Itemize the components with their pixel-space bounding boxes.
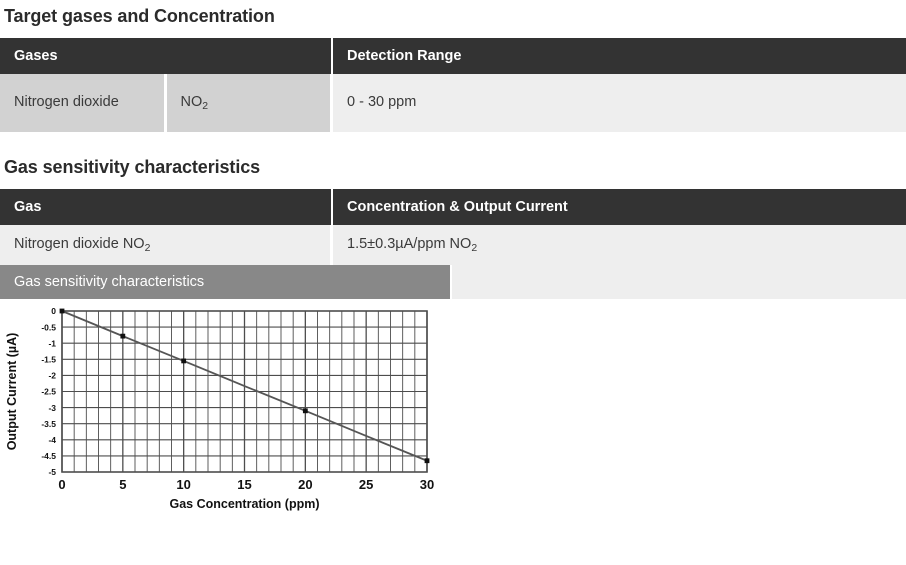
chart-xtick-label: 15 <box>237 477 251 492</box>
section-target-gases: Target gases and Concentration <box>0 0 906 27</box>
column-header-gas: Gas <box>0 189 333 225</box>
column-header-gases: Gases <box>0 38 333 74</box>
page-root: Target gases and Concentration Gases Det… <box>0 0 906 565</box>
gas-subscript: 2 <box>145 243 151 254</box>
table-head: Gas Concentration & Output Current <box>0 189 906 225</box>
chart-data-marker <box>60 309 65 314</box>
chart-ytick-label: -2.5 <box>41 387 56 397</box>
chart-xaxis-title: Gas Concentration (ppm) <box>169 497 319 511</box>
output-current-subscript: 2 <box>471 243 477 254</box>
cell-output-current: 1.5±0.3µA/ppm NO2 <box>333 225 906 265</box>
output-current-text: 1.5±0.3µA/ppm NO <box>347 236 471 252</box>
chart-data-marker <box>181 359 186 364</box>
chart-xtick-label: 20 <box>298 477 312 492</box>
gas-text: Nitrogen dioxide NO <box>14 236 145 252</box>
page-title-target-gases: Target gases and Concentration <box>4 6 906 27</box>
chart-ytick-label: -1.5 <box>41 355 56 365</box>
chart-data-marker <box>425 458 430 463</box>
chart-ytick-label: -2 <box>48 371 56 381</box>
chart-yaxis-title: Output Current (µA) <box>5 333 19 451</box>
chart-xtick-label: 5 <box>119 477 126 492</box>
table-body: Nitrogen dioxide NO2 1.5±0.3µA/ppm NO2 <box>0 225 906 265</box>
target-gases-table: Gases Detection Range Nitrogen dioxide N… <box>0 38 906 132</box>
cell-detection-range: 0 - 30 ppm <box>333 74 906 132</box>
chart-ytick-label: -3.5 <box>41 419 56 429</box>
table-body: Nitrogen dioxide NO2 0 - 30 ppm <box>0 74 906 132</box>
table-row: Nitrogen dioxide NO2 0 - 30 ppm <box>0 74 906 132</box>
chart-data-marker <box>303 408 308 413</box>
table-head: Gases Detection Range <box>0 38 906 74</box>
page-title-gas-sensitivity: Gas sensitivity characteristics <box>4 157 906 178</box>
gas-sensitivity-table: Gas Concentration & Output Current Nitro… <box>0 189 906 265</box>
chart-ytick-label: 0 <box>51 306 56 316</box>
cell-gas: Nitrogen dioxide NO2 <box>0 225 333 265</box>
gas-sensitivity-table-container: Gas Concentration & Output Current Nitro… <box>0 189 906 265</box>
chart-xtick-label: 30 <box>420 477 434 492</box>
chart-ytick-label: -4.5 <box>41 451 56 461</box>
gas-sensitivity-chart: 0-0.5-1-1.5-2-2.5-3-3.5-4-4.5-5051015202… <box>0 299 460 514</box>
gas-name-text: Nitrogen dioxide <box>14 94 119 110</box>
chart-xtick-label: 10 <box>176 477 190 492</box>
table-header-row: Gas Concentration & Output Current <box>0 189 906 225</box>
chart-data-marker <box>120 334 125 339</box>
chart-ytick-label: -5 <box>48 467 56 477</box>
chart-xtick-label: 25 <box>359 477 373 492</box>
table-row: Nitrogen dioxide NO2 1.5±0.3µA/ppm NO2 <box>0 225 906 265</box>
chart-ytick-label: -3 <box>48 403 56 413</box>
cell-gas-formula: NO2 <box>167 74 334 132</box>
chart-caption-row: Gas sensitivity characteristics <box>0 265 906 299</box>
chart-ytick-label: -0.5 <box>41 322 56 332</box>
chart-ytick-label: -4 <box>48 435 56 445</box>
chart-xtick-label: 0 <box>58 477 65 492</box>
gas-formula-text: NO <box>181 94 203 110</box>
gas-formula-subscript: 2 <box>202 101 208 112</box>
section-gas-sensitivity: Gas sensitivity characteristics <box>0 132 906 178</box>
table-header-row: Gases Detection Range <box>0 38 906 74</box>
chart-ytick-label: -1 <box>48 338 56 348</box>
chart-caption-label: Gas sensitivity characteristics <box>0 265 452 299</box>
column-header-detection-range: Detection Range <box>333 38 906 74</box>
cell-gas-name: Nitrogen dioxide <box>0 74 167 132</box>
column-header-concentration-output-current: Concentration & Output Current <box>333 189 906 225</box>
chart-caption-filler <box>452 265 906 299</box>
target-gases-table-container: Gases Detection Range Nitrogen dioxide N… <box>0 38 906 132</box>
chart-svg: 0-0.5-1-1.5-2-2.5-3-3.5-4-4.5-5051015202… <box>0 299 460 514</box>
detection-range-text: 0 - 30 ppm <box>347 94 416 110</box>
